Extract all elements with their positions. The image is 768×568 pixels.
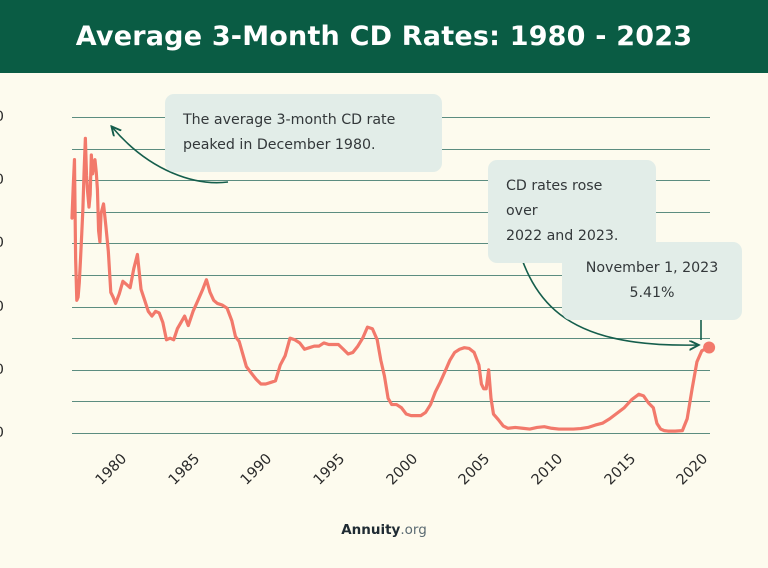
y-axis-tick-label: 12.00 xyxy=(0,235,4,251)
annotation-peak-line1: The average 3-month CD rate xyxy=(183,108,424,133)
annotation-latest-value-note: November 1, 2023 5.41% xyxy=(562,242,742,320)
x-axis-tick-label: 1990 xyxy=(238,451,275,488)
chart-page: Average 3-Month CD Rates: 1980 - 2023 20… xyxy=(0,0,768,568)
y-axis-tick-label: 16.00 xyxy=(0,172,4,188)
x-axis-tick-label: 1985 xyxy=(165,451,202,488)
annotation-latest-date: November 1, 2023 xyxy=(580,256,724,281)
x-axis-tick-label: 2005 xyxy=(456,451,493,488)
x-axis-tick-label: 2020 xyxy=(674,451,711,488)
y-axis-tick-label: 8.00 xyxy=(0,299,4,315)
endpoint-marker xyxy=(703,342,715,354)
y-axis-tick-label: 20.00 xyxy=(0,109,4,125)
annotation-peak-line2: peaked in December 1980. xyxy=(183,133,424,158)
y-axis-tick-label: 0.00 xyxy=(0,425,4,441)
y-axis-tick-label: 4.00 xyxy=(0,362,4,378)
x-axis-tick-label: 2010 xyxy=(529,451,566,488)
annotation-peak-note: The average 3-month CD rate peaked in De… xyxy=(165,94,442,172)
x-axis-tick-label: 1995 xyxy=(311,451,348,488)
header-bar: Average 3-Month CD Rates: 1980 - 2023 xyxy=(0,0,768,73)
page-title: Average 3-Month CD Rates: 1980 - 2023 xyxy=(76,21,692,52)
x-axis-tick-label: 1980 xyxy=(93,451,130,488)
gridline-major xyxy=(72,433,710,434)
brand-tld: .org xyxy=(400,522,426,538)
annotation-latest-rate: 5.41% xyxy=(580,281,724,306)
x-axis-tick-label: 2000 xyxy=(383,451,420,488)
footer-branding: Annuity.org xyxy=(0,522,768,538)
x-axis-tick-label: 2015 xyxy=(601,451,638,488)
brand-name: Annuity xyxy=(341,522,400,538)
annotation-rise-line1: CD rates rose over xyxy=(506,174,638,224)
